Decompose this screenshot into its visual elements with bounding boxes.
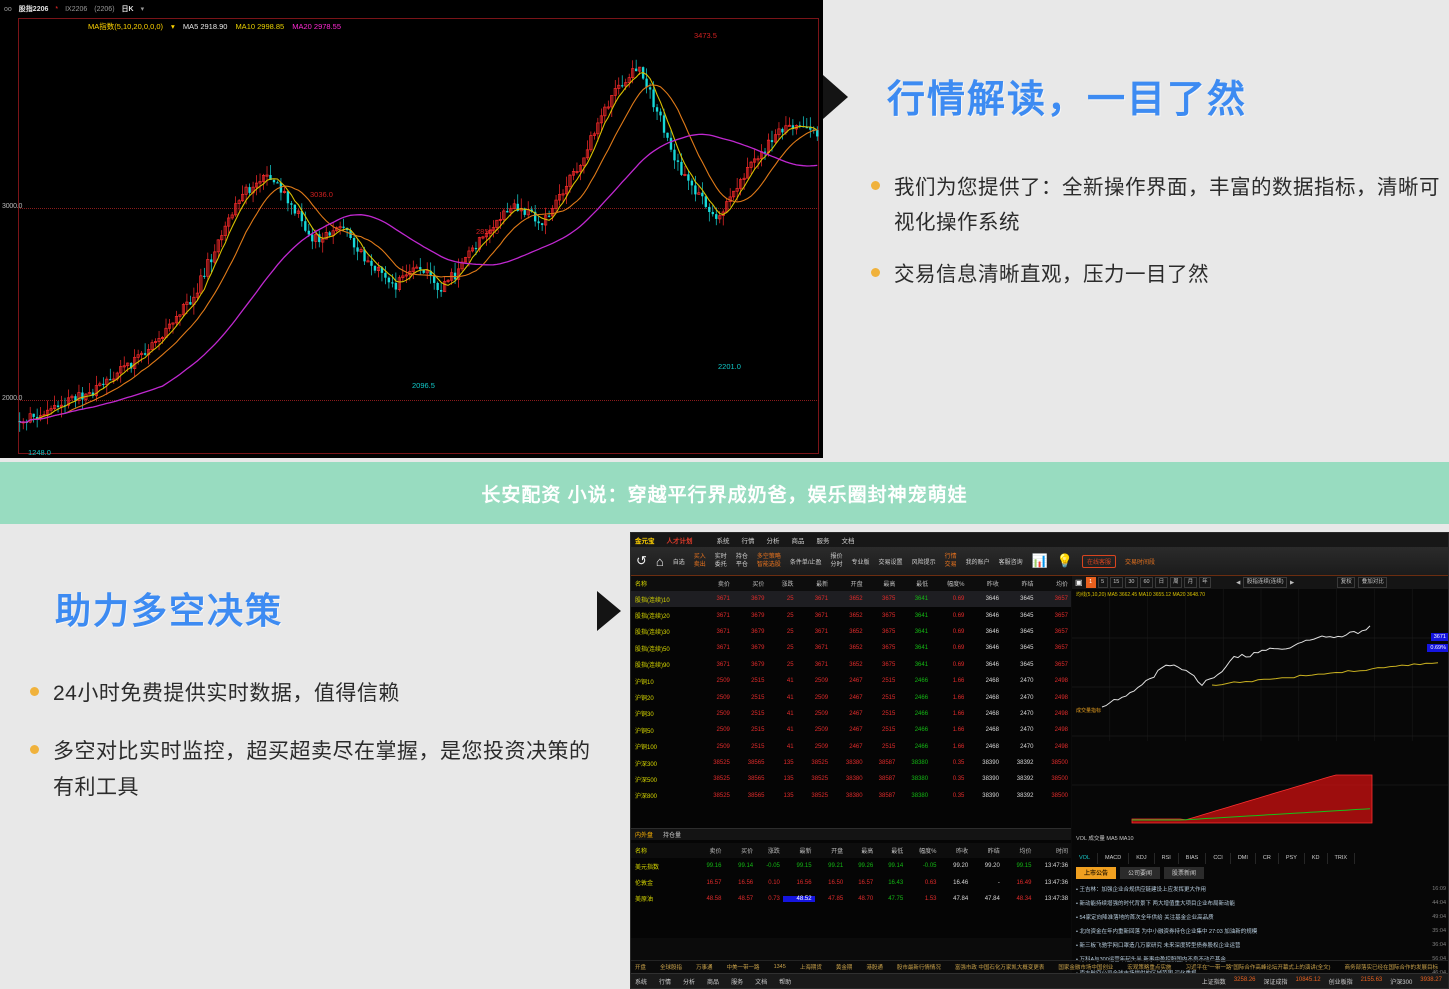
table-row[interactable]: 沪铜10250925154125092467251524661.66246824…: [631, 673, 1071, 689]
row-value-cell: 3671: [697, 662, 733, 668]
column-header[interactable]: 时间: [1034, 846, 1071, 855]
toolbar-item-group[interactable]: 自选买入卖出实时委托持仓平仓多空策略智能选股条件单/止盈报价分时专业版交易设置风…: [673, 553, 1023, 569]
indicator-tab[interactable]: VOL: [1072, 853, 1098, 864]
list-item: 多空对比实时监控，超买超卖尽在掌握，是您投资决策的有利工具: [30, 734, 610, 806]
row-value-cell: 16.46: [940, 880, 972, 886]
news-title[interactable]: • 北向资金在年内重新回落 为中小融资券持仓企业集中 27:03 加油新的规模: [1076, 927, 1257, 935]
ticker-item[interactable]: 开盘: [635, 963, 646, 971]
row-value-cell: 2509: [797, 695, 832, 701]
row-value-cell: 2515: [733, 744, 768, 750]
row-value-cell: 16.50: [815, 880, 847, 886]
row-value-cell: 3671: [697, 629, 733, 635]
chart-symbol-selector[interactable]: 股指连续(连续): [1243, 577, 1287, 588]
column-header[interactable]: 昨收: [967, 579, 1002, 588]
news-title[interactable]: • 王吉林：加强企业合规供应链建设上应发挥更大作用: [1076, 885, 1206, 893]
ticker-item[interactable]: 上海期货: [800, 963, 822, 971]
row-value-cell: 48.70: [846, 896, 876, 902]
news-tab[interactable]: 上市公告: [1076, 867, 1116, 879]
column-header[interactable]: 开盘: [831, 579, 866, 588]
menubar-item[interactable]: 系统: [717, 538, 730, 545]
bullet-text: 24小时免费提供实时数据，值得信赖: [53, 676, 400, 712]
row-value-cell: 3646: [967, 645, 1002, 651]
row-value-cell: 13:47:38: [1034, 896, 1071, 902]
column-header[interactable]: 最低: [898, 579, 931, 588]
menubar-item[interactable]: 文档: [842, 538, 855, 545]
row-value-cell: 2467: [831, 678, 866, 684]
menubar-item[interactable]: 服务: [817, 538, 830, 545]
news-tab-bar[interactable]: 上市公告公司要闻股票新闻: [1072, 865, 1449, 880]
ticker-item[interactable]: 股市最新行情情况: [897, 963, 941, 971]
timeframe-button[interactable]: 30: [1125, 577, 1138, 588]
row-value-cell: 0.35: [931, 760, 967, 766]
top-headline: 行情解读，一目了然: [887, 68, 1247, 123]
table-row[interactable]: 股指(连续)20367136792536713652367536410.6936…: [631, 607, 1071, 623]
promo-banner[interactable]: 长安配资 小说：穿越平行界成奶爸，娱乐圈封神宠萌娃: [0, 462, 1449, 524]
status-menu-item[interactable]: 帮助: [779, 977, 791, 986]
chart-prefix: oo: [4, 6, 12, 13]
indicator-legend-row: VOL 成交量 MA5 MA10: [1072, 834, 1449, 854]
column-header[interactable]: 昨收: [940, 846, 972, 855]
ticker-item[interactable]: 全球股指: [660, 963, 682, 971]
toolbar-button-bottom[interactable]: 平仓: [736, 561, 748, 569]
row-name-cell: 股指(连续)30: [631, 627, 697, 636]
row-value-cell: 2470: [1002, 744, 1037, 750]
table-row[interactable]: 伦敦金16.5716.560.1016.5616.5016.5716.430.6…: [631, 874, 1071, 890]
row-name-cell: 股指(连续)90: [631, 660, 697, 669]
timeframe-button[interactable]: 月: [1184, 577, 1197, 588]
column-header[interactable]: 幅度%: [931, 579, 967, 588]
row-value-cell: 99.14: [876, 863, 906, 869]
row-value-cell: 38380: [898, 793, 931, 799]
quote-table-secondary[interactable]: 名称卖价买价涨跌最新开盘最高最低幅度%昨收昨结均价时间 美元指数99.1699.…: [631, 843, 1071, 938]
table-row[interactable]: 沪铜50250925154125092467251524661.66246824…: [631, 722, 1071, 738]
status-index-value: 3258.26: [1234, 977, 1256, 986]
column-header[interactable]: 名称: [631, 579, 697, 588]
chart-period[interactable]: 日K: [122, 4, 134, 14]
timeframe-list[interactable]: 15153060日周月年: [1086, 577, 1212, 588]
ticker-item[interactable]: 商务部落实已经在国际合作的发展目标: [1345, 963, 1439, 971]
menubar-items[interactable]: 系统行情分析商品服务文档: [705, 535, 855, 545]
row-value-cell: 2498: [1036, 678, 1071, 684]
terminal-chart-panel[interactable]: ▣ 15153060日周月年 ◀ 股指连续(连续) ▶ 复权 叠加对比 3671: [1072, 576, 1449, 989]
terminal-logo: 金元宝: [635, 535, 655, 545]
chart-timeframe-bar[interactable]: ▣ 15153060日周月年 ◀ 股指连续(连续) ▶ 复权 叠加对比: [1072, 576, 1449, 589]
ticker-item[interactable]: 富强市政 中国石化万家凯大概变更表: [955, 963, 1045, 971]
column-header[interactable]: 均价: [1003, 846, 1035, 855]
table-row[interactable]: 沪铜100250925154125092467251524661.6624682…: [631, 739, 1071, 755]
terminal-status-bar[interactable]: 系统行情分析商品服务文档帮助 上证指数3258.26深证成指10845.12创业…: [631, 973, 1448, 988]
row-value-cell: 3641: [898, 629, 931, 635]
ticker-item[interactable]: 万事通: [696, 963, 713, 971]
toolbar-button-top[interactable]: 报价: [831, 553, 843, 561]
row-value-cell: 47.84: [971, 896, 1003, 902]
nav-next-icon[interactable]: ▶: [1290, 580, 1294, 586]
row-value-cell: 47.75: [876, 896, 906, 902]
indicator-legend: VOL 成交量 MA5 MA10: [1072, 836, 1134, 842]
toolbar-button[interactable]: 买入卖出: [694, 553, 706, 569]
status-menu-items[interactable]: 系统行情分析商品服务文档帮助: [635, 977, 791, 986]
column-header[interactable]: 均价: [1036, 579, 1071, 588]
table-row[interactable]: 沪铜20250925154125092467251524661.66246824…: [631, 689, 1071, 705]
toolbar-button[interactable]: 我的账户: [966, 557, 990, 566]
bottom-headline: 助力多空决策: [55, 582, 283, 634]
row-value-cell: 38565: [733, 793, 768, 799]
column-header[interactable]: 买价: [733, 579, 768, 588]
row-value-cell: 38380: [831, 760, 866, 766]
row-value-cell: 1.66: [931, 711, 967, 717]
column-header[interactable]: 开盘: [815, 846, 847, 855]
list-item: 交易信息清晰直观，压力一目了然: [871, 257, 1449, 292]
row-value-cell: 38500: [1036, 793, 1071, 799]
status-menu-item[interactable]: 分析: [683, 977, 695, 986]
row-value-cell: 3652: [831, 662, 866, 668]
toolbar-button-bottom[interactable]: 交易: [945, 561, 957, 569]
indicator-tab[interactable]: MACD: [1098, 853, 1129, 864]
table-row[interactable]: 美原油48.5848.570.7348.5247.8548.7047.751.5…: [631, 891, 1071, 907]
row-value-cell: 16.49: [1003, 880, 1035, 886]
row-value-cell: 38587: [866, 776, 899, 782]
toolbar-button-bottom[interactable]: 智能选股: [757, 561, 781, 569]
nav-prev-icon[interactable]: ◀: [1236, 580, 1240, 586]
row-value-cell: 99.15: [783, 863, 815, 869]
row-value-cell: 99.15: [1003, 863, 1035, 869]
row-value-cell: 38525: [697, 760, 733, 766]
menubar-item[interactable]: 行情: [742, 538, 755, 545]
row-value-cell: 2515: [866, 744, 899, 750]
chart-icon[interactable]: 📊: [1032, 553, 1048, 569]
badge-pct: 0.69%: [1430, 645, 1446, 651]
status-menu-item[interactable]: 服务: [731, 977, 743, 986]
indicator-tab[interactable]: KD: [1305, 853, 1328, 864]
news-item[interactable]: • 新三板飞驰宇网口罩造几万家研究 未来深度转型债券股权企业运营36:04: [1072, 938, 1449, 952]
toolbar-button-top[interactable]: 多空策略: [757, 553, 781, 561]
terminal-chart-plot[interactable]: 3671 0.69% 均线(5,10,20) MA5 3662.45 MA10 …: [1072, 589, 1449, 834]
row-value-cell: 0.69: [931, 662, 967, 668]
news-tab[interactable]: 公司要闻: [1120, 867, 1160, 879]
home-icon[interactable]: ⌂: [656, 554, 664, 569]
bullet-dot-icon: [30, 745, 39, 754]
chart-symbol-name: 股指2206: [19, 4, 49, 14]
news-item[interactable]: • 新动能持续增强的时代背景下 两大增值重大项目企业布局新动能44:04: [1072, 896, 1449, 910]
chart-symbol-code: IX2206: [65, 6, 87, 13]
menubar-item[interactable]: 商品: [792, 538, 805, 545]
toolbar-button[interactable]: 行情交易: [945, 553, 957, 569]
column-header[interactable]: 昨结: [1002, 579, 1037, 588]
bullet-dot-icon: [871, 181, 880, 190]
row-value-cell: 48.57: [724, 896, 756, 902]
column-header[interactable]: 最新: [797, 579, 832, 588]
ticker-item[interactable]: 习近平在"一带一路"国际合作高峰论坛开幕式上的演讲(全文): [1185, 963, 1330, 971]
indicator-tab[interactable]: CR: [1256, 853, 1279, 864]
row-value-cell: 38500: [1036, 760, 1071, 766]
row-value-cell: 135: [767, 760, 796, 766]
row-name-cell: 沪铜100: [631, 742, 697, 751]
table-row[interactable]: 沪深5003852538565135385253838038587383800.…: [631, 771, 1071, 787]
undo-icon[interactable]: ↺: [636, 553, 647, 569]
bottom-bullet-list: 24小时免费提供实时数据，值得信赖 多空对比实时监控，超买超卖尽在掌握，是您投资…: [30, 676, 610, 828]
adjust-price-button[interactable]: 复权: [1337, 577, 1355, 588]
online-service-button[interactable]: 在线客服: [1082, 555, 1116, 568]
timeframe-button[interactable]: 年: [1199, 577, 1212, 588]
timeframe-button[interactable]: 1: [1086, 577, 1096, 588]
bulb-icon[interactable]: 💡: [1057, 553, 1073, 569]
indicator-tab[interactable]: CCI: [1206, 853, 1230, 864]
column-header[interactable]: 涨跌: [756, 846, 783, 855]
toolbar-button-bottom[interactable]: 卖出: [694, 561, 706, 569]
row-value-cell: 99.14: [724, 863, 756, 869]
column-header[interactable]: 买价: [724, 846, 756, 855]
toolbar-button[interactable]: 自选: [673, 557, 685, 566]
row-name-cell: 股指(连续)20: [631, 611, 697, 620]
row-value-cell: 3645: [1002, 629, 1037, 635]
column-header[interactable]: 最低: [876, 846, 906, 855]
row-value-cell: 2468: [967, 695, 1002, 701]
row-value-cell: 25: [767, 662, 796, 668]
row-value-cell: 3657: [1036, 645, 1071, 651]
chart-symbol-bar[interactable]: oo 股指2206 * IX2206 (2206) 日K ▾: [0, 2, 823, 16]
row-value-cell: 3646: [967, 662, 1002, 668]
column-header[interactable]: 幅度%: [906, 846, 939, 855]
toolbar-button-top[interactable]: 行情: [945, 553, 957, 561]
news-title[interactable]: • 新三板飞驰宇网口罩造几万家研究 未来深度转型债券股权企业运营: [1076, 941, 1240, 949]
row-value-cell: 3657: [1036, 629, 1071, 635]
row-value-cell: 2467: [831, 695, 866, 701]
row-value-cell: 2498: [1036, 695, 1071, 701]
row-value-cell: 38392: [1002, 760, 1037, 766]
news-item[interactable]: • 54家定向降准落地的首次全年供给 关注基金企业高品质49:04: [1072, 910, 1449, 924]
timeframe-button[interactable]: 周: [1170, 577, 1183, 588]
table-row[interactable]: 沪深8003852538565135385253838038587383800.…: [631, 788, 1071, 804]
row-value-cell: 3671: [697, 645, 733, 651]
table-row[interactable]: 沪深3003852538565135385253838038587383800.…: [631, 755, 1071, 771]
toolbar-button[interactable]: 持仓平仓: [736, 553, 748, 569]
chevron-down-icon[interactable]: ▾: [141, 5, 145, 13]
news-tab[interactable]: 股票新闻: [1164, 867, 1204, 879]
banner-text: 长安配资 小说：穿越平行界成奶爸，娱乐圈封神宠萌娃: [481, 480, 967, 507]
indicator-tab-bar[interactable]: VOLMACDKDJRSIBIASCCIDMICRPSYKDTRIX: [1072, 852, 1449, 865]
row-value-cell: 38392: [1002, 793, 1037, 799]
row-value-cell: 99.16: [691, 863, 724, 869]
status-menu-item[interactable]: 商品: [707, 977, 719, 986]
status-menu-item[interactable]: 文档: [755, 977, 767, 986]
ticker-item[interactable]: 宏观策略重点实施: [1127, 963, 1171, 971]
row-value-cell: 16.56: [724, 880, 756, 886]
row-value-cell: 135: [767, 776, 796, 782]
row-value-cell: 25: [767, 629, 796, 635]
row-value-cell: 3641: [898, 662, 931, 668]
news-item[interactable]: • 王吉林：加强企业合规供应链建设上应发挥更大作用16:09: [1072, 882, 1449, 896]
trading-terminal-screenshot[interactable]: 金元宝 人才计划 系统行情分析商品服务文档 ↺ ⌂ 自选买入卖出实时委托持仓平仓…: [630, 532, 1449, 989]
table-row[interactable]: 股指(连续)90367136792536713652367536410.6936…: [631, 657, 1071, 673]
row-value-cell: 3679: [733, 629, 768, 635]
row-value-cell: 38392: [1002, 776, 1037, 782]
terminal-logo-secondary: 人才计划: [667, 535, 693, 545]
expand-icon[interactable]: ▣: [1075, 578, 1083, 587]
row-name-cell: 伦敦金: [631, 878, 691, 887]
row-value-cell: 3645: [1002, 662, 1037, 668]
row-value-cell: 3671: [797, 645, 832, 651]
column-header[interactable]: 最高: [866, 579, 899, 588]
bottom-section: 助力多空决策 24小时免费提供实时数据，值得信赖 多空对比实时监控，超买超卖尽在…: [0, 524, 1449, 989]
toolbar-button[interactable]: 实时委托: [715, 553, 727, 569]
row-value-cell: 48.58: [691, 896, 724, 902]
timeframe-button[interactable]: 5: [1098, 577, 1108, 588]
status-menu-item[interactable]: 行情: [659, 977, 671, 986]
row-value-cell: 3646: [967, 596, 1002, 602]
row-value-cell: 2509: [697, 744, 733, 750]
row-value-cell: 38587: [866, 760, 899, 766]
toolbar-button[interactable]: 报价分时: [831, 553, 843, 569]
toolbar-button[interactable]: 风险提示: [912, 557, 936, 566]
row-value-cell: 2509: [697, 711, 733, 717]
timeframe-button[interactable]: 日: [1155, 577, 1168, 588]
quote-subtabs[interactable]: 内外盘 持仓量: [631, 828, 1071, 840]
news-item[interactable]: • 北向资金在年内重新回落 为中小融资券持仓企业集中 27:03 加油新的规模3…: [1072, 924, 1449, 938]
menubar-item[interactable]: 分析: [767, 538, 780, 545]
subtab-open-interest[interactable]: 持仓量: [663, 830, 681, 839]
row-value-cell: 2466: [898, 695, 931, 701]
ticker-item[interactable]: 港股通: [866, 963, 883, 971]
chart-annotation: 成交量指标: [1076, 707, 1101, 714]
row-value-cell: 2515: [733, 727, 768, 733]
table-row[interactable]: 股指(连续)50367136792536713652367536410.6936…: [631, 640, 1071, 656]
table-row[interactable]: 股指(连续)30367136792536713652367536410.6936…: [631, 624, 1071, 640]
row-value-cell: 3645: [1002, 596, 1037, 602]
row-value-cell: 16.57: [846, 880, 876, 886]
row-value-cell: 3671: [797, 662, 832, 668]
timeframe-button[interactable]: 60: [1140, 577, 1153, 588]
subtab-inner-outer[interactable]: 内外盘: [635, 830, 653, 839]
table-row[interactable]: 股指(连续)10367136792536713652367536410.6936…: [631, 591, 1071, 607]
ticker-item[interactable]: 黄金期: [836, 963, 853, 971]
ticker-item[interactable]: 1345: [774, 964, 786, 970]
ticker-item[interactable]: 国家金融市场中国创业: [1058, 963, 1113, 971]
toolbar-button[interactable]: 专业版: [852, 557, 870, 566]
row-value-cell: 2509: [797, 678, 832, 684]
row-value-cell: 2467: [831, 744, 866, 750]
column-header[interactable]: 最高: [846, 846, 876, 855]
overlay-compare-button[interactable]: 叠加对比: [1358, 577, 1387, 588]
row-value-cell: 2466: [898, 727, 931, 733]
row-value-cell: 3675: [866, 629, 899, 635]
chart-plot-area[interactable]: [18, 18, 819, 454]
indicator-tab[interactable]: TRIX: [1328, 853, 1356, 864]
toolbar-button[interactable]: 多空策略智能选股: [757, 553, 781, 569]
row-value-cell: 38525: [797, 776, 832, 782]
row-value-cell: 0.63: [906, 880, 939, 886]
row-value-cell: 2509: [697, 678, 733, 684]
column-header[interactable]: 最新: [783, 846, 815, 855]
toolbar-button-bottom[interactable]: 委托: [715, 561, 727, 569]
row-value-cell: 25: [767, 645, 796, 651]
table-body[interactable]: 美元指数99.1699.14-0.0599.1599.2199.2699.14-…: [631, 858, 1071, 907]
column-header[interactable]: 昨结: [971, 846, 1003, 855]
row-value-cell: 38500: [1036, 776, 1071, 782]
bottom-text-panel: 助力多空决策 24小时免费提供实时数据，值得信赖 多空对比实时监控，超买超卖尽在…: [0, 524, 630, 989]
row-value-cell: 2468: [967, 711, 1002, 717]
terminal-menubar[interactable]: 金元宝 人才计划 系统行情分析商品服务文档: [631, 533, 1448, 547]
status-index-value: 沪深300: [1390, 977, 1412, 986]
column-header[interactable]: 名称: [631, 846, 691, 855]
row-value-cell: 3646: [967, 629, 1002, 635]
table-row[interactable]: 沪铜30250925154125092467251524661.66246824…: [631, 706, 1071, 722]
row-name-cell: 美元指数: [631, 862, 691, 871]
row-value-cell: 2509: [697, 695, 733, 701]
news-date: 35:04: [1432, 928, 1446, 934]
row-name-cell: 股指(连续)10: [631, 595, 697, 604]
row-value-cell: 2515: [733, 711, 768, 717]
row-value-cell: 3657: [1036, 613, 1071, 619]
row-value-cell: 3645: [1002, 645, 1037, 651]
row-value-cell: 2515: [866, 695, 899, 701]
indicator-tab[interactable]: RSI: [1155, 853, 1179, 864]
toolbar-button-top[interactable]: 实时: [715, 553, 727, 561]
row-value-cell: 38380: [898, 776, 931, 782]
row-value-cell: 38565: [733, 776, 768, 782]
chart-star-icon[interactable]: *: [55, 6, 58, 13]
toolbar-button-bottom[interactable]: 分时: [831, 561, 843, 569]
status-index-value: 深证成指: [1264, 977, 1288, 986]
row-value-cell: 3671: [697, 596, 733, 602]
row-value-cell: -0.05: [756, 863, 783, 869]
main-candlestick-chart[interactable]: oo 股指2206 * IX2206 (2206) 日K ▾ MA指数(5,10…: [0, 0, 823, 458]
chart-ma-legend: 均线(5,10,20) MA5 3662.45 MA10 3655.12 MA2…: [1076, 591, 1205, 598]
column-header[interactable]: 涨跌: [767, 579, 796, 588]
terminal-toolbar[interactable]: ↺ ⌂ 自选买入卖出实时委托持仓平仓多空策略智能选股条件单/止盈报价分时专业版交…: [631, 547, 1448, 576]
column-header[interactable]: 卖价: [691, 846, 724, 855]
row-value-cell: 48.52: [783, 896, 815, 902]
news-title[interactable]: • 新动能持续增强的时代背景下 两大增值重大项目企业布局新动能: [1076, 899, 1235, 907]
row-value-cell: 0.73: [756, 896, 783, 902]
pct-badge: 0.69%: [1427, 644, 1449, 652]
row-value-cell: 38390: [967, 793, 1002, 799]
badge-price: 3671: [1434, 634, 1446, 640]
toolbar-button[interactable]: 客服咨询: [999, 557, 1023, 566]
news-ticker[interactable]: 开盘全球股指万事通中美一带一路1345上海期货黄金期港股通股市最新行情情况富强市…: [631, 960, 1448, 972]
row-value-cell: 16.56: [783, 880, 815, 886]
row-value-cell: 2470: [1002, 711, 1037, 717]
status-index-value: 10845.12: [1296, 977, 1321, 986]
toolbar-button[interactable]: 条件单/止盈: [790, 557, 822, 566]
toolbar-button[interactable]: 交易设置: [879, 557, 903, 566]
status-index-value: 3938.27: [1420, 977, 1442, 986]
status-index-values: 上证指数3258.26深证成指10845.12创业板指2155.63沪深3003…: [1202, 977, 1448, 986]
row-name-cell: 沪铜10: [631, 677, 697, 686]
row-value-cell: 47.85: [815, 896, 847, 902]
column-header[interactable]: 卖价: [697, 579, 733, 588]
indicator-tab[interactable]: BIAS: [1179, 853, 1207, 864]
status-index-value: 2155.63: [1361, 977, 1383, 986]
table-body[interactable]: 股指(连续)10367136792536713652367536410.6936…: [631, 591, 1071, 804]
row-value-cell: 41: [767, 711, 796, 717]
ticker-item[interactable]: 中美一带一路: [727, 963, 760, 971]
toolbar-button-top[interactable]: 持仓: [736, 553, 748, 561]
news-title[interactable]: • 54家定向降准落地的首次全年供给 关注基金企业高品质: [1076, 913, 1214, 921]
row-value-cell: -0.05: [906, 863, 939, 869]
table-row[interactable]: 美元指数99.1699.14-0.0599.1599.2199.2699.14-…: [631, 858, 1071, 874]
row-name-cell: 沪深300: [631, 759, 697, 768]
indicator-tab[interactable]: PSY: [1279, 853, 1305, 864]
timeframe-button[interactable]: 15: [1110, 577, 1123, 588]
indicator-tab[interactable]: KDJ: [1129, 853, 1154, 864]
row-value-cell: 0.69: [931, 613, 967, 619]
row-value-cell: 2498: [1036, 744, 1071, 750]
toolbar-button-top[interactable]: 买入: [694, 553, 706, 561]
row-value-cell: 99.26: [846, 863, 876, 869]
status-menu-item[interactable]: 系统: [635, 977, 647, 986]
row-value-cell: 2467: [831, 727, 866, 733]
indicator-tab[interactable]: DMI: [1231, 853, 1256, 864]
